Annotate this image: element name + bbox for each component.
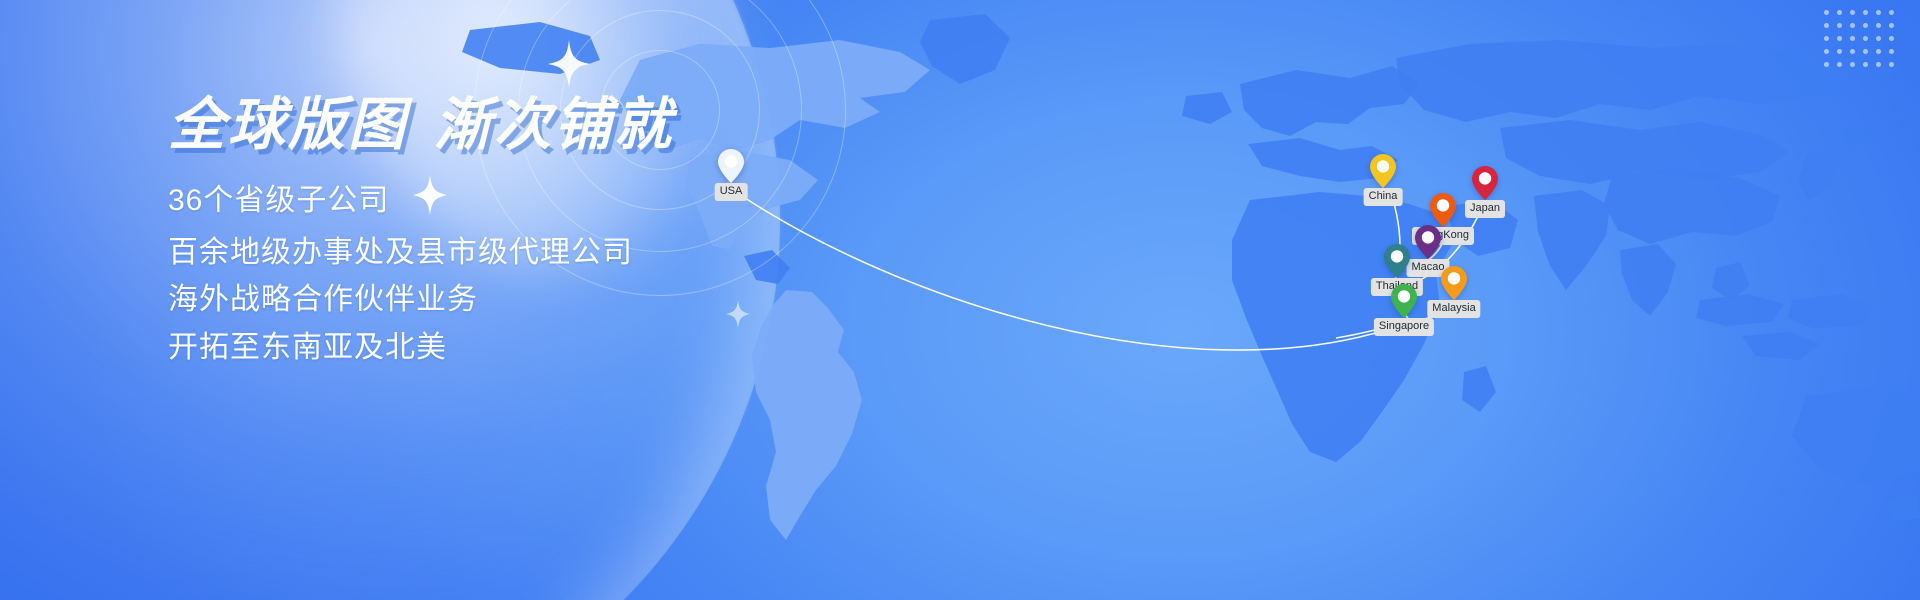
highlight-line-1: 36个省级子公司 <box>168 175 447 229</box>
map-marker-china[interactable]: China <box>1370 154 1396 188</box>
grid-dot <box>1863 36 1868 41</box>
location-pin-icon <box>1415 225 1441 259</box>
grid-dot <box>1824 62 1829 67</box>
map-marker-label-singapore: Singapore <box>1374 318 1434 336</box>
grid-dot <box>1824 49 1829 54</box>
grid-dot <box>1837 62 1842 67</box>
map-marker-label-japan: Japan <box>1465 200 1505 218</box>
grid-dot <box>1824 23 1829 28</box>
grid-dot <box>1889 23 1894 28</box>
location-pin-icon <box>1384 244 1410 278</box>
grid-dot <box>1837 10 1842 15</box>
grid-dot <box>1824 10 1829 15</box>
headline-part-1: 全球版图 <box>168 93 408 157</box>
location-pin-icon <box>1441 266 1467 300</box>
grid-dot <box>1837 49 1842 54</box>
grid-dot <box>1876 23 1881 28</box>
grid-dot <box>1863 62 1868 67</box>
grid-dot <box>1863 10 1868 15</box>
highlight-line-4: 开拓至东南亚及北美 <box>168 324 888 371</box>
location-pin-icon <box>718 149 744 183</box>
grid-dot <box>1889 49 1894 54</box>
grid-dot <box>1850 36 1855 41</box>
location-pin-icon <box>1391 284 1417 318</box>
map-marker-hongkong[interactable]: HongKong <box>1430 193 1456 227</box>
grid-dot <box>1889 62 1894 67</box>
grid-dot <box>1863 23 1868 28</box>
grid-dot <box>1850 62 1855 67</box>
location-pin-icon <box>1430 193 1456 227</box>
highlight-line-1-text: 36个省级子公司 <box>168 184 389 217</box>
grid-dot <box>1824 36 1829 41</box>
map-marker-label-usa: USA <box>715 183 748 201</box>
grid-dot <box>1837 23 1842 28</box>
map-marker-japan[interactable]: Japan <box>1472 166 1498 200</box>
grid-dot <box>1850 10 1855 15</box>
map-marker-macao[interactable]: Macao <box>1415 225 1441 259</box>
highlight-line-2: 百余地级办事处及县市级代理公司 <box>168 229 888 276</box>
grid-dot <box>1850 23 1855 28</box>
grid-dot <box>1876 62 1881 67</box>
map-marker-label-malaysia: Malaysia <box>1427 300 1480 318</box>
grid-dot <box>1889 36 1894 41</box>
dot-grid-decoration <box>1824 10 1898 84</box>
sparkle-icon-inline <box>413 175 447 229</box>
grid-dot <box>1876 49 1881 54</box>
global-map-banner: 全球版图渐次铺就 36个省级子公司 百余地级办事处及县市级代理公司 海外战略合作… <box>0 0 1920 600</box>
grid-dot <box>1837 36 1842 41</box>
map-marker-usa[interactable]: USA <box>718 149 744 183</box>
grid-dot <box>1850 49 1855 54</box>
page-title: 全球版图渐次铺就 <box>168 96 888 155</box>
map-marker-label-china: China <box>1364 188 1403 206</box>
headline-part-2: 渐次铺就 <box>434 93 674 157</box>
grid-dot <box>1863 49 1868 54</box>
location-pin-icon <box>1472 166 1498 200</box>
map-marker-malaysia[interactable]: Malaysia <box>1441 266 1467 300</box>
highlight-line-3: 海外战略合作伙伴业务 <box>168 276 888 323</box>
grid-dot <box>1876 10 1881 15</box>
map-marker-thailand[interactable]: Thailand <box>1384 244 1410 278</box>
location-pin-icon <box>1370 154 1396 188</box>
banner-copy: 全球版图渐次铺就 36个省级子公司 百余地级办事处及县市级代理公司 海外战略合作… <box>168 96 888 371</box>
map-marker-singapore[interactable]: Singapore <box>1391 284 1417 318</box>
grid-dot <box>1889 10 1894 15</box>
grid-dot <box>1876 36 1881 41</box>
highlight-list: 36个省级子公司 百余地级办事处及县市级代理公司 海外战略合作伙伴业务 开拓至东… <box>168 175 888 370</box>
